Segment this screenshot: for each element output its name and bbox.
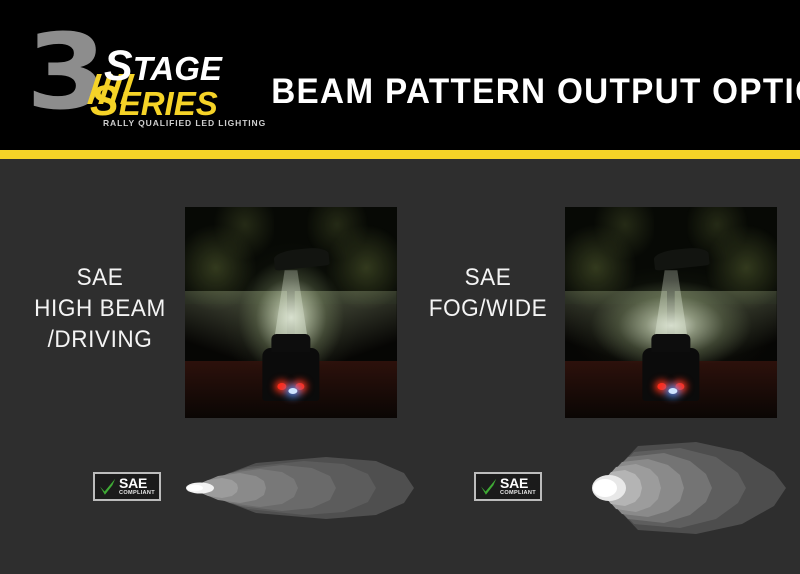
beam-pattern-diagram-fog-wide [592,440,796,536]
sae-badge-subtitle: COMPLIANT [500,490,538,497]
page-title: BEAM PATTERN OUTPUT OPTIONS [271,74,773,109]
beam-hotspot-core [593,479,617,497]
license-light-icon [669,388,678,394]
check-icon [97,476,118,497]
photo-vehicle [262,348,319,401]
sae-compliant-badge-fog-wide: SAE COMPLIANT [474,472,542,501]
sae-badge-title: SAE [119,477,157,490]
taillight-right-icon [675,383,684,390]
beam-hotspot-core [187,485,203,491]
sae-badge-inner: SAE COMPLIANT [95,474,159,499]
option-label-line: SAE [25,262,175,293]
photo-vehicle [642,348,699,401]
option-label-high-beam: SAE HIGH BEAM /DRIVING [25,262,175,355]
sae-badge-text: SAE COMPLIANT [118,477,157,497]
taillight-right-icon [295,383,304,390]
option-label-line: FOG/WIDE [422,293,554,324]
beam-pattern-infographic: 3 STAGE SERIES RALLY QUALIFIED LED LIGHT… [0,0,800,574]
license-light-icon [289,388,298,394]
taillight-left-icon [278,383,287,390]
logo-stage-rest: TAGE [133,50,222,87]
logo-tagline: RALLY QUALIFIED LED LIGHTING [103,118,266,128]
option-label-line: /DRIVING [25,324,175,355]
option-label-line: HIGH BEAM [25,293,175,324]
option-label-fog-wide: SAE FOG/WIDE [422,262,554,324]
sae-badge-text: SAE COMPLIANT [499,477,538,497]
logo-word-series: SERIES [90,85,218,120]
check-icon [478,476,499,497]
sae-badge-title: SAE [500,477,538,490]
stage-series-logo: 3 STAGE SERIES RALLY QUALIFIED LED LIGHT… [26,26,241,126]
sae-badge-subtitle: COMPLIANT [119,490,157,497]
logo-series-rest: ERIES [119,85,218,122]
beam-pattern-diagram-high-beam [186,447,414,529]
header-accent-rule [0,150,800,159]
logo-word-stage: STAGE [104,50,222,85]
photo-high-beam [185,207,397,418]
photo-fog-wide [565,207,777,418]
taillight-left-icon [658,383,667,390]
sae-compliant-badge-high-beam: SAE COMPLIANT [93,472,161,501]
option-label-line: SAE [422,262,554,293]
sae-badge-inner: SAE COMPLIANT [476,474,540,499]
